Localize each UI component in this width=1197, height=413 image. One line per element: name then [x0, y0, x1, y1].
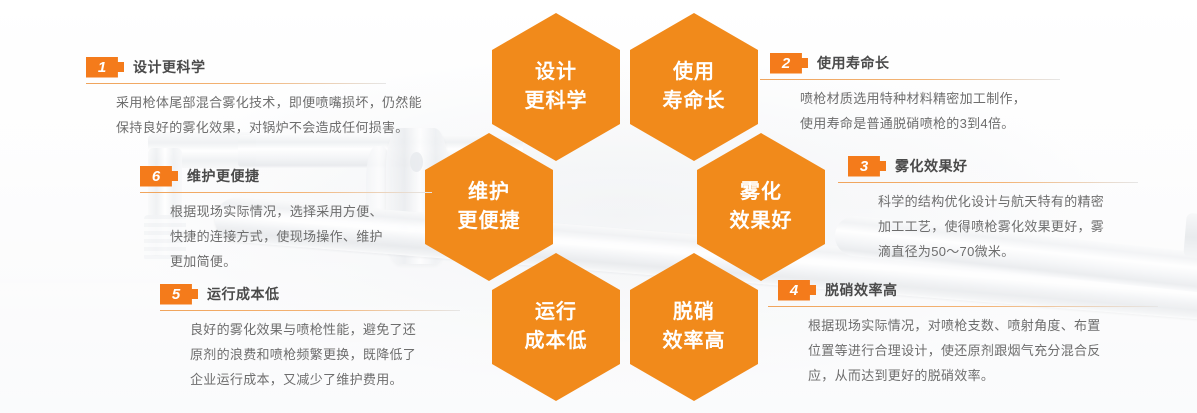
feature-5-number-badge: 5 [160, 284, 198, 305]
feature-5-line-1: 良好的雾化效果与喷枪性能，避免了还 [190, 317, 490, 342]
hexagon-design-line1: 设计 [535, 58, 577, 87]
feature-6-head: 6 维护更便捷 [140, 165, 460, 187]
hexagon-cost-line1: 运行 [535, 298, 577, 327]
feature-2-head: 2 使用寿命长 [760, 52, 1090, 74]
feature-5-line-2: 原剂的浪费和喷枪频繁更换，既降低了 [190, 342, 490, 367]
feature-2-number-badge: 2 [770, 53, 808, 74]
hexagon-denitration-line2: 效率高 [663, 327, 726, 356]
feature-block-1: 1 设计更科学 采用枪体尾部混合雾化技术，即便喷嘴损坏，仍然能 保持良好的雾化效… [86, 56, 416, 140]
feature-6-title: 维护更便捷 [187, 166, 260, 186]
feature-6-line-3: 更加简便。 [170, 249, 460, 274]
feature-3-line-1: 科学的结构优化设计与航天特有的精密 [878, 189, 1168, 214]
feature-6-divider [140, 192, 432, 193]
feature-block-6: 6 维护更便捷 根据现场实际情况，选择采用方便、 快捷的连接方式，使现场操作、维… [140, 165, 460, 274]
hexagon-cost-line2: 成本低 [525, 327, 588, 356]
feature-6-number-badge: 6 [140, 166, 178, 187]
feature-3-number-badge: 3 [848, 156, 886, 177]
hexagon-atomization-line2: 效果好 [730, 207, 793, 236]
feature-3-line-3: 滴直径为50～70微米。 [878, 239, 1168, 264]
feature-1-head: 1 设计更科学 [86, 56, 416, 78]
hexagon-lifespan-line2: 寿命长 [663, 87, 726, 116]
feature-3-line-2: 加工工艺，使得喷枪雾化效果更好，雾 [878, 214, 1168, 239]
hexagon-lifespan-line1: 使用 [673, 58, 715, 87]
feature-5-title: 运行成本低 [207, 284, 280, 304]
feature-5-divider [160, 310, 460, 311]
feature-3-divider [838, 182, 1138, 183]
feature-1-line-1: 采用枪体尾部混合雾化技术，即便喷嘴损坏，仍然能 [116, 90, 416, 115]
feature-2-body: 喷枪材质选用特种材料精密加工制作， 使用寿命是普通脱硝喷枪的3到4倍。 [760, 86, 1090, 136]
feature-1-number-badge: 1 [86, 57, 124, 78]
hexagon-design-line2: 更科学 [525, 87, 588, 116]
feature-infographic: 设计 更科学 使用 寿命长 维护 更便捷 雾化 效果好 运行 成本低 脱硝 效率… [0, 0, 1197, 413]
hexagon-denitration-line1: 脱硝 [673, 298, 715, 327]
feature-2-divider [760, 79, 1060, 80]
feature-block-4: 4 脱硝效率高 根据现场实际情况，对喷枪支数、喷射角度、布置 位置等进行合理设计… [768, 279, 1188, 388]
feature-4-number-badge: 4 [778, 280, 816, 301]
feature-5-body: 良好的雾化效果与喷枪性能，避免了还 原剂的浪费和喷枪频繁更换，既降低了 企业运行… [160, 317, 490, 392]
feature-4-line-3: 应，从而达到更好的脱硝效率。 [808, 363, 1188, 388]
feature-4-title: 脱硝效率高 [825, 280, 898, 300]
feature-2-line-2: 使用寿命是普通脱硝喷枪的3到4倍。 [800, 111, 1090, 136]
hexagon-maintenance-line2: 更便捷 [458, 207, 521, 236]
feature-4-divider [768, 306, 1158, 307]
feature-4-body: 根据现场实际情况，对喷枪支数、喷射角度、布置 位置等进行合理设计，使还原剂跟烟气… [768, 313, 1188, 388]
feature-3-head: 3 雾化效果好 [838, 155, 1168, 177]
hexagon-maintenance-line1: 维护 [468, 178, 510, 207]
feature-block-3: 3 雾化效果好 科学的结构优化设计与航天特有的精密 加工工艺，使得喷枪雾化效果更… [838, 155, 1168, 264]
hexagon-atomization-line1: 雾化 [740, 178, 782, 207]
feature-2-title: 使用寿命长 [817, 53, 890, 73]
feature-6-line-2: 快捷的连接方式，使现场操作、维护 [170, 224, 460, 249]
feature-1-body: 采用枪体尾部混合雾化技术，即便喷嘴损坏，仍然能 保持良好的雾化效果，对锅炉不会造… [86, 90, 416, 140]
feature-6-body: 根据现场实际情况，选择采用方便、 快捷的连接方式，使现场操作、维护 更加简便。 [140, 199, 460, 274]
feature-5-line-3: 企业运行成本，又减少了维护费用。 [190, 367, 490, 392]
feature-block-5: 5 运行成本低 良好的雾化效果与喷枪性能，避免了还 原剂的浪费和喷枪频繁更换，既… [160, 283, 490, 392]
feature-3-body: 科学的结构优化设计与航天特有的精密 加工工艺，使得喷枪雾化效果更好，雾 滴直径为… [838, 189, 1168, 264]
feature-3-title: 雾化效果好 [895, 156, 968, 176]
feature-4-head: 4 脱硝效率高 [768, 279, 1188, 301]
feature-1-divider [86, 83, 386, 84]
feature-2-line-1: 喷枪材质选用特种材料精密加工制作， [800, 86, 1090, 111]
feature-5-head: 5 运行成本低 [160, 283, 490, 305]
feature-4-line-1: 根据现场实际情况，对喷枪支数、喷射角度、布置 [808, 313, 1188, 338]
feature-block-2: 2 使用寿命长 喷枪材质选用特种材料精密加工制作， 使用寿命是普通脱硝喷枪的3到… [760, 52, 1090, 136]
feature-1-title: 设计更科学 [133, 57, 206, 77]
feature-6-line-1: 根据现场实际情况，选择采用方便、 [170, 199, 460, 224]
feature-4-line-2: 位置等进行合理设计，使还原剂跟烟气充分混合反 [808, 338, 1188, 363]
feature-1-line-2: 保持良好的雾化效果，对锅炉不会造成任何损害。 [116, 115, 416, 140]
